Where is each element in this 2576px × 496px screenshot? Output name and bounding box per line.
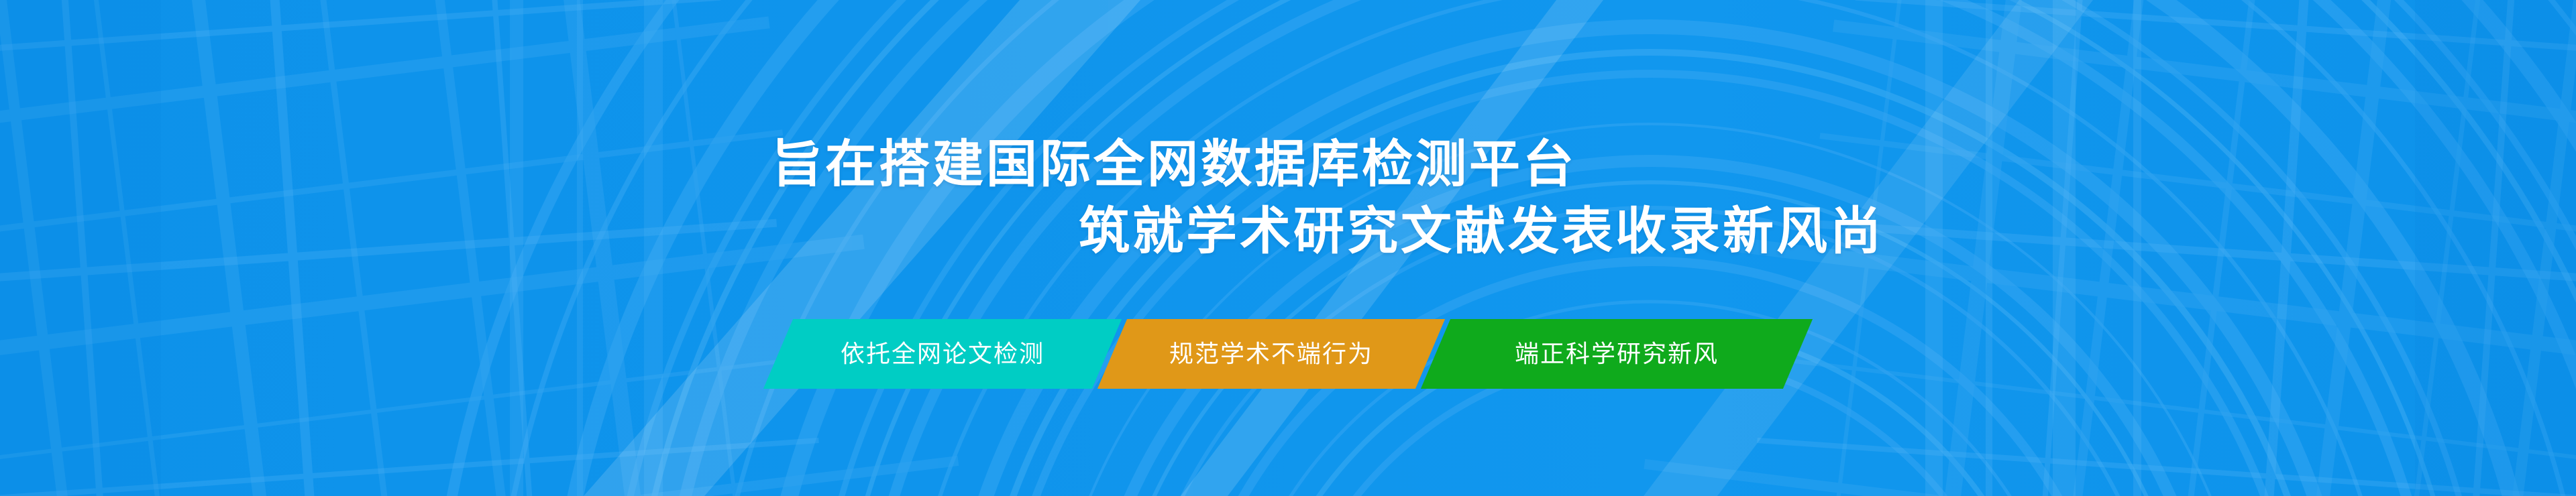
feature-tag-bar: 依托全网论文检测 规范学术不端行为 端正科学研究新风 (778, 319, 1805, 389)
headline-block: 旨在搭建国际全网数据库检测平台 筑就学术研究文献发表收录新风尚 (0, 131, 2576, 265)
feature-tag-3[interactable]: 端正科学研究新风 (1421, 319, 1813, 389)
feature-tag-1-label: 依托全网论文检测 (841, 342, 1044, 366)
feature-tag-2-label: 规范学术不端行为 (1169, 342, 1373, 366)
headline-line-2: 筑就学术研究文献发表收录新风尚 (1079, 198, 2576, 265)
promo-banner: 旨在搭建国际全网数据库检测平台 筑就学术研究文献发表收录新风尚 依托全网论文检测… (0, 0, 2576, 496)
feature-tag-3-label: 端正科学研究新风 (1515, 342, 1719, 366)
headline-line-1: 旨在搭建国际全网数据库检测平台 (771, 131, 2576, 198)
feature-tag-2[interactable]: 规范学术不端行为 (1097, 319, 1445, 389)
feature-tag-1[interactable]: 依托全网论文检测 (763, 319, 1122, 389)
